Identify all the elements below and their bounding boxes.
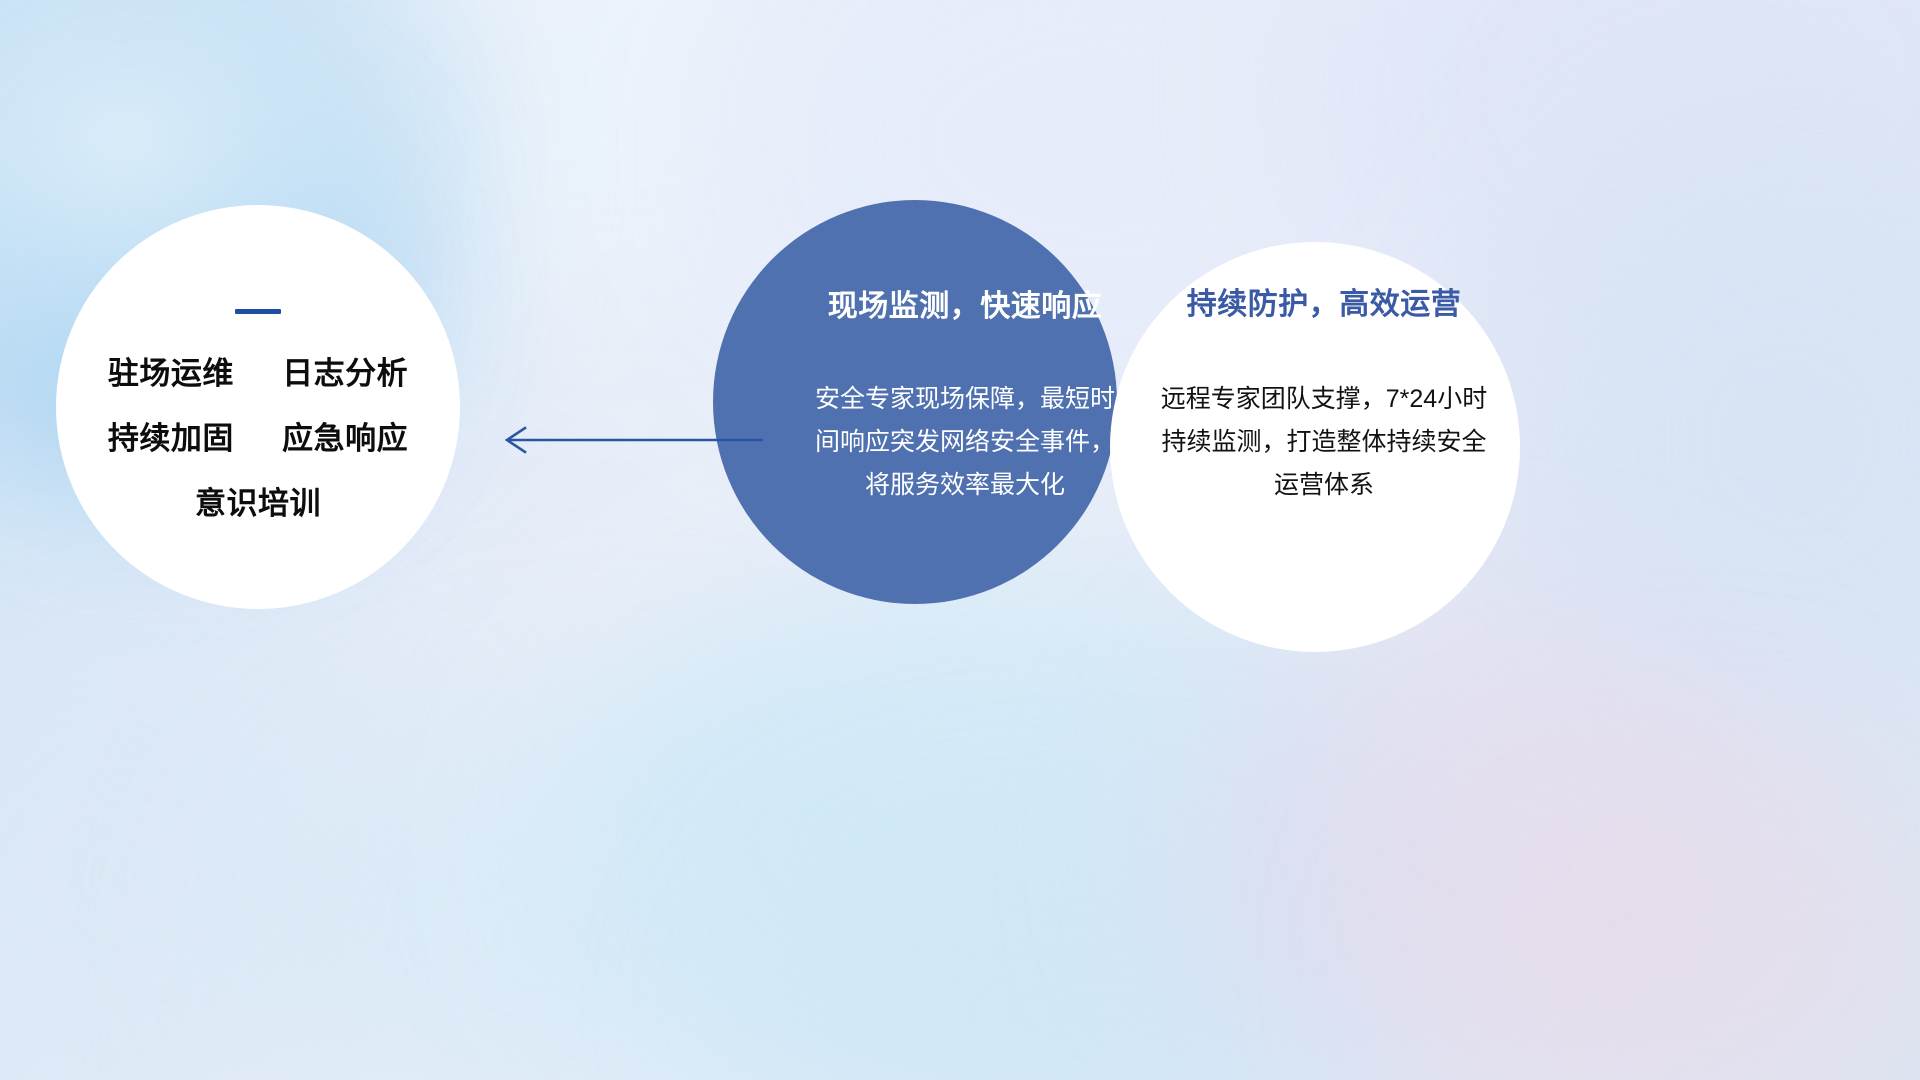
keyword-row: 意识培训 <box>56 488 460 519</box>
onsite-monitoring-title: 现场监测，快速响应 <box>763 292 1167 322</box>
keyword-item: 持续加固 <box>108 421 234 456</box>
continuous-protection-body: 远程专家团队支撑，7*24小时持续监测，打造整体持续安全运营体系 <box>1154 378 1494 507</box>
keyword-item: 日志分析 <box>282 356 408 391</box>
capability-keywords-content: 驻场运维 日志分析 持续加固 应急响应 意识培训 <box>56 205 460 519</box>
continuous-protection-title: 持续防护，高效运营 <box>1119 290 1529 320</box>
keyword-item: 意识培训 <box>195 486 321 521</box>
keyword-item: 应急响应 <box>282 421 408 456</box>
keyword-row: 持续加固 应急响应 <box>56 423 460 454</box>
continuous-protection-content: 持续防护，高效运营 远程专家团队支撑，7*24小时持续监测，打造整体持续安全运营… <box>1119 242 1529 507</box>
keyword-item: 驻场运维 <box>108 356 234 391</box>
onsite-monitoring-body: 安全专家现场保障，最短时间响应突发网络安全事件，将服务效率最大化 <box>815 378 1115 507</box>
onsite-monitoring-content: 现场监测，快速响应 安全专家现场保障，最短时间响应突发网络安全事件，将服务效率最… <box>763 200 1167 507</box>
onsite-monitoring-circle: 现场监测，快速响应 安全专家现场保障，最短时间响应突发网络安全事件，将服务效率最… <box>713 200 1117 604</box>
continuous-protection-circle: 持续防护，高效运营 远程专家团队支撑，7*24小时持续监测，打造整体持续安全运营… <box>1110 242 1520 652</box>
accent-dash-icon <box>235 309 281 314</box>
keyword-row: 驻场运维 日志分析 <box>56 358 460 389</box>
leftward-flow-arrow <box>495 415 765 465</box>
capability-keywords-circle: 驻场运维 日志分析 持续加固 应急响应 意识培训 <box>56 205 460 609</box>
